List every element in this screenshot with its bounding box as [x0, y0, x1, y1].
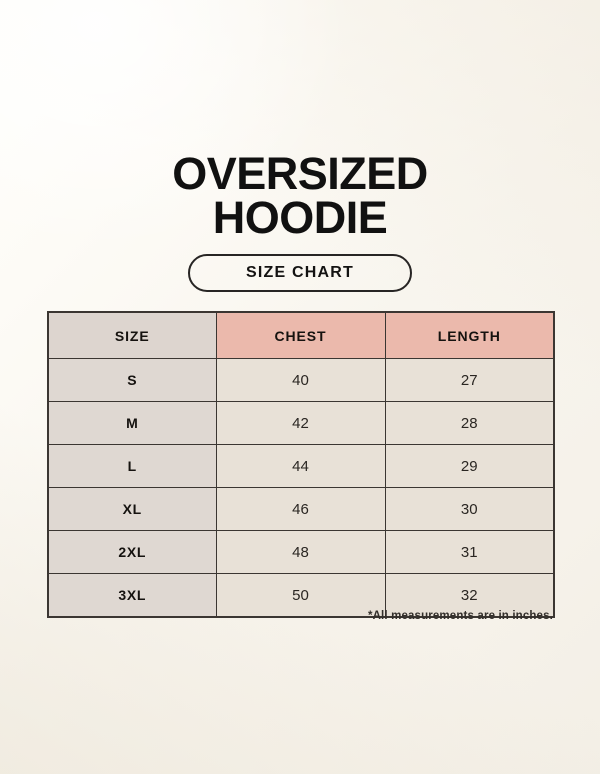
cell-size: M: [48, 402, 216, 445]
cell-length: 29: [385, 445, 554, 488]
cell-length: 31: [385, 531, 554, 574]
cell-size: S: [48, 359, 216, 402]
cell-chest: 46: [216, 488, 385, 531]
page-title: OVERSIZED HOODIE: [0, 152, 600, 240]
cell-chest: 40: [216, 359, 385, 402]
table-header-row: SIZE CHEST LENGTH: [48, 312, 554, 359]
cell-chest: 42: [216, 402, 385, 445]
size-table-container: SIZE CHEST LENGTH S 40 27 M 42 28: [47, 311, 553, 618]
measurements-footnote: *All measurements are in inches.: [47, 610, 553, 622]
size-chart-page: OVERSIZED HOODIE SIZE CHART SIZE CHEST L…: [0, 0, 600, 774]
content-area: OVERSIZED HOODIE SIZE CHART SIZE CHEST L…: [0, 0, 600, 774]
column-header-length: LENGTH: [385, 312, 554, 359]
column-header-chest: CHEST: [216, 312, 385, 359]
size-chart-badge-label: SIZE CHART: [246, 264, 354, 282]
cell-chest: 48: [216, 531, 385, 574]
cell-length: 30: [385, 488, 554, 531]
size-table-head: SIZE CHEST LENGTH: [48, 312, 554, 359]
cell-chest: 44: [216, 445, 385, 488]
table-row: M 42 28: [48, 402, 554, 445]
column-header-size: SIZE: [48, 312, 216, 359]
size-chart-badge: SIZE CHART: [188, 254, 412, 292]
size-table: SIZE CHEST LENGTH S 40 27 M 42 28: [47, 311, 555, 618]
cell-size: L: [48, 445, 216, 488]
size-table-body: S 40 27 M 42 28 L 44 29 XL: [48, 359, 554, 618]
table-row: 2XL 48 31: [48, 531, 554, 574]
table-row: L 44 29: [48, 445, 554, 488]
cell-size: XL: [48, 488, 216, 531]
cell-length: 27: [385, 359, 554, 402]
cell-length: 28: [385, 402, 554, 445]
table-row: XL 46 30: [48, 488, 554, 531]
cell-size: 2XL: [48, 531, 216, 574]
table-row: S 40 27: [48, 359, 554, 402]
